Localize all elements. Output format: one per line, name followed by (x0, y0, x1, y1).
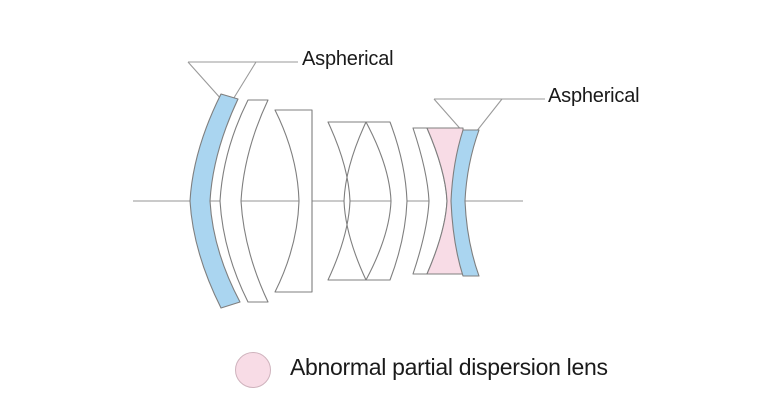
lens-diagram: Aspherical Aspherical Abnormal partial d… (0, 0, 783, 420)
callout-leg-front-right (232, 62, 256, 101)
legend-label-abnormal-dispersion: Abnormal partial dispersion lens (290, 354, 608, 381)
callout-leg-front-left (188, 62, 222, 100)
front-aspherical-callout (188, 62, 298, 101)
aspherical-label-rear: Aspherical (548, 85, 639, 108)
legend-swatch-abnormal-dispersion (235, 352, 271, 388)
aspherical-label-front: Aspherical (302, 48, 393, 71)
callout-leg-rear-right (476, 99, 502, 132)
